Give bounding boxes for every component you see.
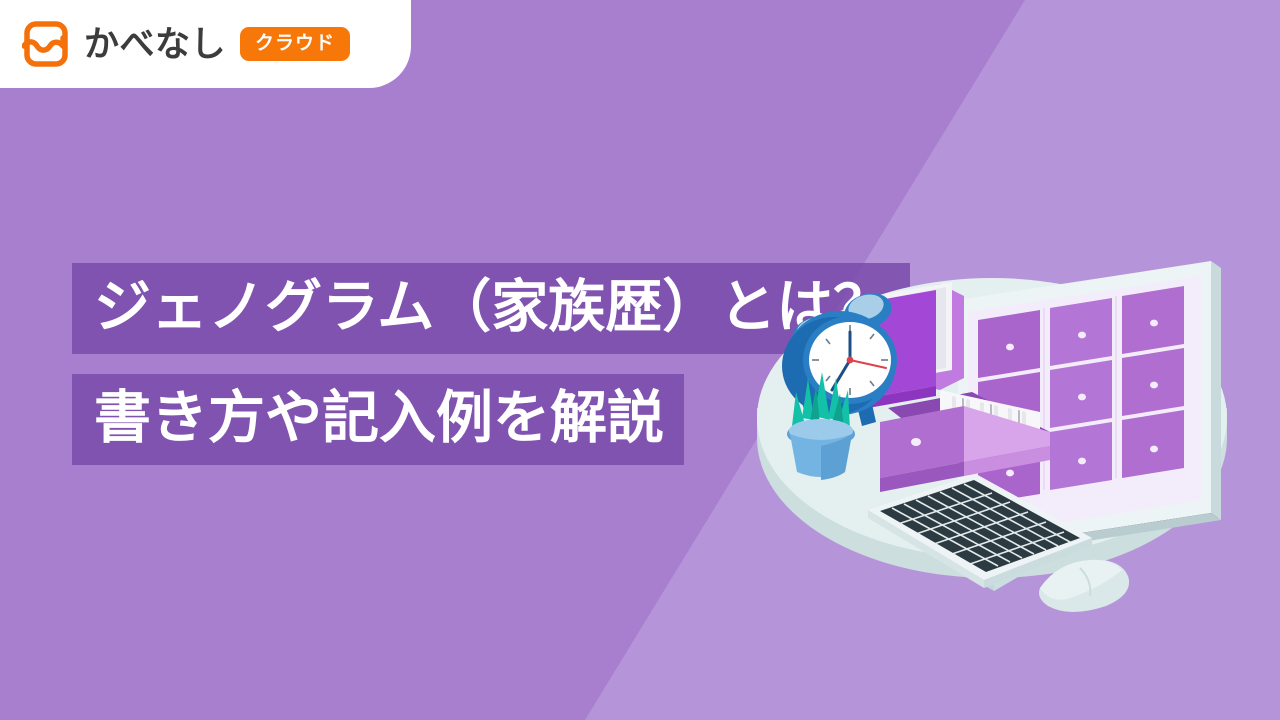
open-drawer-knob	[911, 438, 921, 446]
hero-banner: ジェノグラム（家族歴）とは？ 書き方や記入例を解説 かべなし クラウド	[0, 0, 1280, 720]
kabenashi-logo-mark-icon	[22, 20, 70, 68]
logo-wordmark: かべなし	[84, 27, 226, 62]
cloud-badge: クラウド	[240, 27, 350, 61]
desk-illustration	[740, 250, 1280, 690]
filing-cabinet-drawers	[978, 286, 1184, 504]
headline-line-2: 書き方や記入例を解説	[72, 374, 684, 465]
logo-panel: かべなし クラウド	[0, 0, 411, 88]
